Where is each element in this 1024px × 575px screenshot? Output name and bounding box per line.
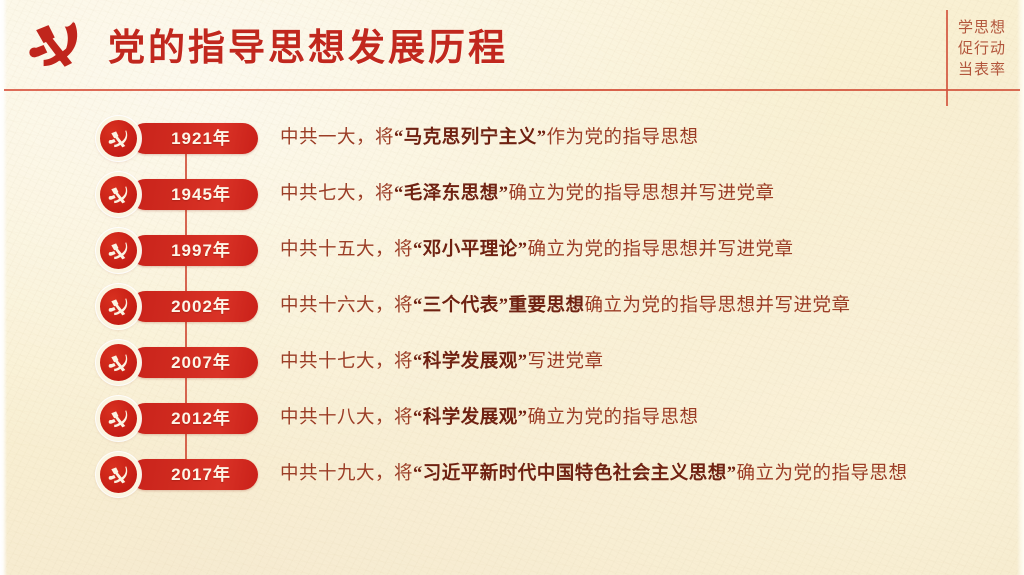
slide-canvas: 党的指导思想发展历程 学思想 促行动 当表率 1921年中共一大，将“马克思列宁…: [0, 0, 1024, 575]
year-pill[interactable]: 2012年: [130, 403, 258, 434]
header-divider-line: [4, 89, 1020, 91]
text-after: 作为党的指导思想: [547, 128, 699, 148]
timeline-row-text: 中共一大，将“马克思列宁主义”作为党的指导思想: [280, 127, 1024, 149]
hammer-sickle-icon: [96, 172, 141, 217]
year-label: 2012年: [157, 410, 231, 427]
year-pill[interactable]: 1997年: [130, 235, 258, 266]
slide-header: 党的指导思想发展历程 学思想 促行动 当表率: [0, 0, 1024, 92]
text-mid: 重要思想: [509, 296, 585, 316]
emblem-disc: [100, 120, 137, 157]
text-after: 写进党章: [528, 352, 604, 372]
timeline-row: 2007年中共十七大，将“科学发展观”写进党章: [0, 334, 1024, 390]
text-before: 中共七大，将: [280, 184, 394, 204]
year-pill[interactable]: 1921年: [130, 123, 258, 154]
slogan-line-2: 促行动: [958, 39, 1018, 60]
year-pill[interactable]: 2007年: [130, 347, 258, 378]
slogan-block: 学思想 促行动 当表率: [958, 18, 1018, 81]
text-before: 中共十五大，将: [280, 240, 413, 260]
slogan-line-1: 学思想: [958, 18, 1018, 39]
emblem-disc: [100, 232, 137, 269]
timeline-year-badge[interactable]: 1997年: [96, 226, 268, 274]
year-label: 1921年: [157, 130, 231, 147]
timeline-row-text: 中共十七大，将“科学发展观”写进党章: [280, 351, 1024, 373]
text-after: 确立为党的指导思想并写进党章: [585, 296, 851, 316]
quote: “科学发展观”: [413, 408, 528, 428]
timeline-row: 1945年中共七大，将“毛泽东思想”确立为党的指导思想并写进党章: [0, 166, 1024, 222]
hammer-sickle-icon: [96, 452, 141, 497]
year-pill[interactable]: 2017年: [130, 459, 258, 490]
timeline-year-badge[interactable]: 1921年: [96, 114, 268, 162]
timeline-row: 1997年中共十五大，将“邓小平理论”确立为党的指导思想并写进党章: [0, 222, 1024, 278]
year-label: 2007年: [157, 354, 231, 371]
year-pill[interactable]: 2002年: [130, 291, 258, 322]
timeline-row-text: 中共十五大，将“邓小平理论”确立为党的指导思想并写进党章: [280, 239, 1024, 261]
text-before: 中共十七大，将: [280, 352, 413, 372]
year-label: 2002年: [157, 298, 231, 315]
timeline-row-text: 中共十六大，将“三个代表”重要思想确立为党的指导思想并写进党章: [280, 295, 1024, 317]
year-label: 1945年: [157, 186, 231, 203]
text-before: 中共十六大，将: [280, 296, 413, 316]
slogan-line-3: 当表率: [958, 60, 1018, 81]
quote: “毛泽东思想”: [394, 184, 509, 204]
timeline-list: 1921年中共一大，将“马克思列宁主义”作为党的指导思想1945年中共七大，将“…: [0, 92, 1024, 575]
emblem-disc: [100, 344, 137, 381]
timeline-year-badge[interactable]: 2002年: [96, 282, 268, 330]
text-after: 确立为党的指导思想并写进党章: [509, 184, 775, 204]
quote: “邓小平理论”: [413, 240, 528, 260]
hammer-sickle-icon: [96, 116, 141, 161]
timeline-row: 1921年中共一大，将“马克思列宁主义”作为党的指导思想: [0, 110, 1024, 166]
hammer-sickle-icon: [24, 14, 88, 76]
quote: “习近平新时代中国特色社会主义思想”: [413, 464, 737, 484]
text-after: 确立为党的指导思想: [737, 464, 908, 484]
text-after: 确立为党的指导思想并写进党章: [528, 240, 794, 260]
timeline-row-text: 中共十八大，将“科学发展观”确立为党的指导思想: [280, 407, 1024, 429]
quote: “马克思列宁主义”: [394, 128, 547, 148]
timeline-row-text: 中共十九大，将“习近平新时代中国特色社会主义思想”确立为党的指导思想: [280, 463, 1024, 485]
timeline-year-badge[interactable]: 2017年: [96, 450, 268, 498]
text-before: 中共十八大，将: [280, 408, 413, 428]
emblem-disc: [100, 176, 137, 213]
timeline-year-badge[interactable]: 2007年: [96, 338, 268, 386]
timeline-year-badge[interactable]: 1945年: [96, 170, 268, 218]
emblem-disc: [100, 456, 137, 493]
year-label: 1997年: [157, 242, 231, 259]
year-label: 2017年: [157, 466, 231, 483]
hammer-sickle-icon: [96, 228, 141, 273]
hammer-sickle-icon: [96, 340, 141, 385]
emblem-disc: [100, 400, 137, 437]
timeline-row: 2002年中共十六大，将“三个代表”重要思想确立为党的指导思想并写进党章: [0, 278, 1024, 334]
text-before: 中共十九大，将: [280, 464, 413, 484]
hammer-sickle-icon: [96, 284, 141, 329]
year-pill[interactable]: 1945年: [130, 179, 258, 210]
quote: “三个代表”: [413, 296, 509, 316]
text-before: 中共一大，将: [280, 128, 394, 148]
quote: “科学发展观”: [413, 352, 528, 372]
timeline-year-badge[interactable]: 2012年: [96, 394, 268, 442]
text-after: 确立为党的指导思想: [528, 408, 699, 428]
hammer-sickle-icon: [96, 396, 141, 441]
timeline-row: 2012年中共十八大，将“科学发展观”确立为党的指导思想: [0, 390, 1024, 446]
timeline-row: 2017年中共十九大，将“习近平新时代中国特色社会主义思想”确立为党的指导思想: [0, 446, 1024, 502]
timeline-row-text: 中共七大，将“毛泽东思想”确立为党的指导思想并写进党章: [280, 183, 1024, 205]
emblem-disc: [100, 288, 137, 325]
page-title: 党的指导思想发展历程: [108, 17, 508, 71]
